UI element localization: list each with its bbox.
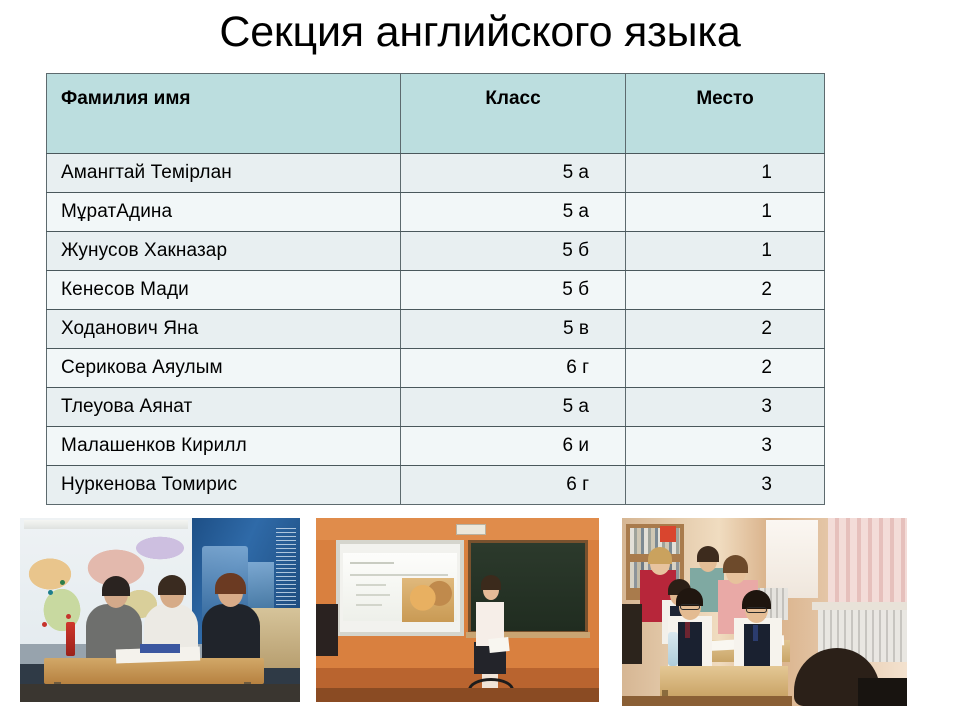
map-marker <box>48 590 53 595</box>
blue-folder <box>140 644 180 653</box>
cell-class: 6 г <box>401 466 626 505</box>
cell-name: Нуркенова Томирис <box>47 466 401 505</box>
window-blinds <box>828 518 907 602</box>
page-title: Секция английского языка <box>0 6 960 58</box>
student-2-tie <box>685 622 690 638</box>
cell-name: Малашенков Кирилл <box>47 427 401 466</box>
cell-place: 3 <box>626 466 825 505</box>
slide-text-line <box>350 562 394 564</box>
foreground-object <box>622 604 642 664</box>
map-marker <box>66 614 71 619</box>
cell-name: Кенесов Мади <box>47 271 401 310</box>
student-3-tie <box>753 625 758 641</box>
cell-class: 6 и <box>401 427 626 466</box>
floor <box>20 684 300 702</box>
cell-name: Тлеуова Аянат <box>47 388 401 427</box>
cell-class: 5 в <box>401 310 626 349</box>
cell-name: Серикова Аяулым <box>47 349 401 388</box>
cell-class: 5 а <box>401 154 626 193</box>
student-3-glasses <box>746 607 767 613</box>
cell-place: 2 <box>626 310 825 349</box>
photo-jury-at-desk <box>20 518 300 702</box>
table-row: Амангтай Темірлан 5 а 1 <box>47 154 825 193</box>
slide-text-line <box>356 584 386 586</box>
student-2-vest <box>678 622 702 668</box>
results-table: Фамилия имя Класс Место Амангтай Темірла… <box>46 73 825 505</box>
column-header-name: Фамилия имя <box>47 74 401 154</box>
map-marker <box>60 580 65 585</box>
table-row: Жунусов Хакназар 5 б 1 <box>47 232 825 271</box>
table-row: Малашенков Кирилл 6 и 3 <box>47 427 825 466</box>
table-row: Нуркенова Томирис 6 г 3 <box>47 466 825 505</box>
cell-class: 6 г <box>401 349 626 388</box>
slide-text-line <box>356 594 390 596</box>
foreground-person-shoulder <box>858 678 907 706</box>
desk-front <box>660 666 788 696</box>
table-row: Серикова Аяулым 6 г 2 <box>47 349 825 388</box>
cell-name: Амангтай Темірлан <box>47 154 401 193</box>
foreground-object <box>316 604 338 656</box>
red-binder <box>660 526 676 542</box>
cell-class: 5 а <box>401 388 626 427</box>
wall-sign <box>456 524 486 535</box>
window-sill <box>812 602 907 610</box>
photo-classroom-audience <box>622 518 907 706</box>
cell-class: 5 б <box>401 271 626 310</box>
cell-place: 1 <box>626 232 825 271</box>
cell-place: 2 <box>626 349 825 388</box>
cell-place: 2 <box>626 271 825 310</box>
presenter-hair <box>481 575 501 590</box>
jury-member-2-hair <box>158 575 186 595</box>
floor <box>316 688 599 702</box>
column-header-class: Класс <box>401 74 626 154</box>
teacher-2-hair <box>697 546 719 562</box>
teacher-1-hair <box>648 547 672 564</box>
cell-name: Жунусов Хакназар <box>47 232 401 271</box>
floor <box>622 696 792 706</box>
slide-text-line <box>356 604 382 606</box>
slide-image <box>402 578 454 622</box>
photo-student-presentation <box>316 518 599 702</box>
jury-member-3-body <box>202 604 260 666</box>
teacher-3-hair <box>723 555 748 573</box>
cell-place: 3 <box>626 427 825 466</box>
cell-place: 3 <box>626 388 825 427</box>
window <box>766 520 818 598</box>
table-row: МұратАдина 5 а 1 <box>47 193 825 232</box>
slide-text-line <box>350 574 448 576</box>
table-row: Ходанович Яна 5 в 2 <box>47 310 825 349</box>
column-header-place: Место <box>626 74 825 154</box>
cell-place: 1 <box>626 154 825 193</box>
student-2-glasses <box>680 604 700 610</box>
cell-place: 1 <box>626 193 825 232</box>
map-marker <box>42 622 47 627</box>
cell-name: МұратАдина <box>47 193 401 232</box>
cell-name: Ходанович Яна <box>47 310 401 349</box>
presenter-notes <box>488 637 509 653</box>
table-row: Кенесов Мади 5 б 2 <box>47 271 825 310</box>
map-title-strip <box>24 520 188 529</box>
red-bottle <box>66 622 75 656</box>
table-row: Тлеуова Аянат 5 а 3 <box>47 388 825 427</box>
jury-member-3-hair <box>215 573 246 594</box>
cell-class: 5 а <box>401 193 626 232</box>
table-header-row: Фамилия имя Класс Место <box>47 74 825 154</box>
water-bottle <box>668 632 678 666</box>
jury-member-1-hair <box>102 576 130 596</box>
cell-class: 5 б <box>401 232 626 271</box>
